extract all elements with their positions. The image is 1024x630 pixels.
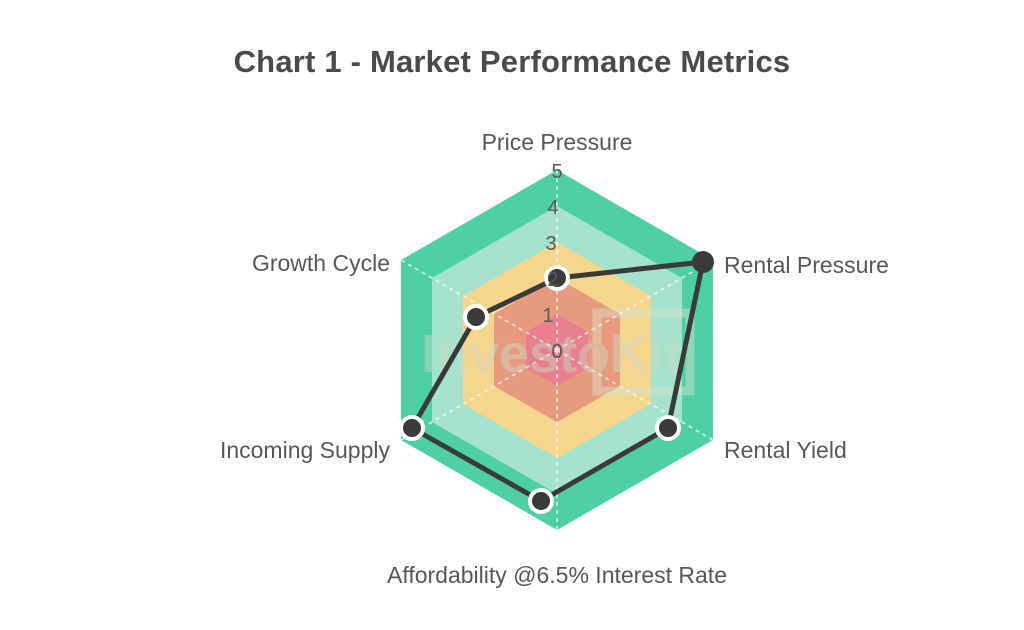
axis-label-rental-yield: Rental Yield <box>724 437 847 463</box>
tick-label-1: 1 <box>542 305 553 327</box>
tick-label-4: 4 <box>547 197 558 219</box>
axis-label-incoming-supply: Incoming Supply <box>220 437 391 463</box>
axis-label-price-pressure: Price Pressure <box>482 129 633 155</box>
axis-label-growth-cycle: Growth Cycle <box>252 250 390 276</box>
tick-label-5: 5 <box>551 161 562 183</box>
chart-container: Chart 1 - Market Performance Metrics Inv… <box>0 0 1024 630</box>
tick-label-3: 3 <box>545 233 556 255</box>
data-point-rental-pressure[interactable] <box>692 251 714 273</box>
radar-chart: Investor Kit 0 1 2 3 <box>0 0 1024 630</box>
data-point-growth-cycle[interactable] <box>465 306 487 328</box>
data-point-rental-yield[interactable] <box>657 417 679 439</box>
axis-label-rental-pressure: Rental Pressure <box>724 252 889 278</box>
tick-label-0: 0 <box>551 341 562 363</box>
axis-label-affordability: Affordability @6.5% Interest Rate <box>387 562 727 588</box>
data-point-incoming-supply[interactable] <box>401 417 423 439</box>
watermark-text-secondary: Kit <box>610 324 682 384</box>
tick-label-2: 2 <box>547 269 558 291</box>
data-point-affordability[interactable] <box>530 490 552 512</box>
